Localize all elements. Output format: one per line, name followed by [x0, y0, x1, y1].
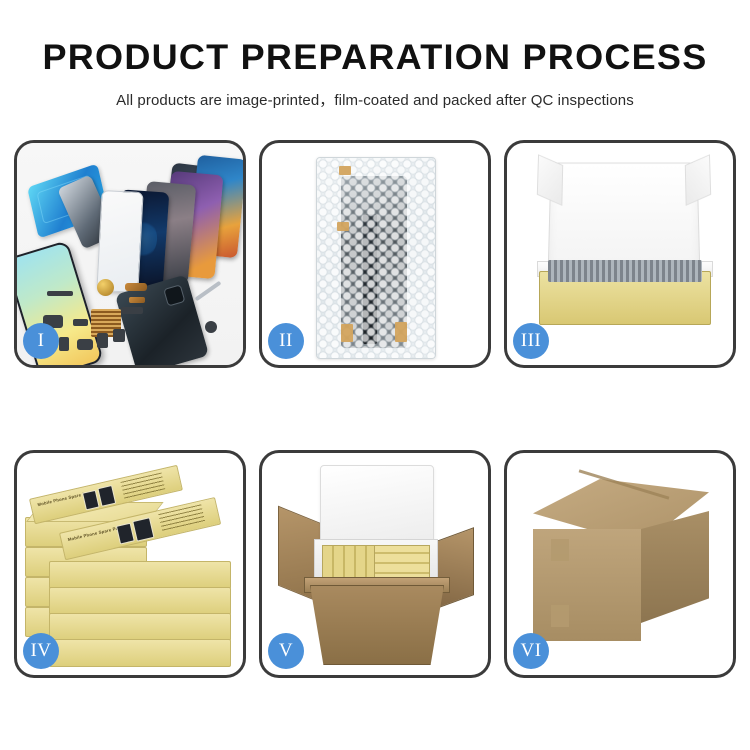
foam-box-lid [320, 465, 434, 543]
tape-piece-2 [337, 222, 349, 231]
tape-piece-3 [341, 324, 353, 342]
box-thumbnail-3 [116, 523, 135, 545]
flex-cable-1 [125, 283, 147, 291]
header: PRODUCT PREPARATION PROCESS All products… [0, 0, 750, 110]
step-badge-1: I [23, 323, 59, 359]
yellow-box-tray [539, 271, 711, 325]
flex-cable-2 [129, 297, 145, 303]
carton-tape-patch-2 [551, 605, 569, 627]
step-panel-1: I [14, 140, 246, 368]
box-stack: Mobile Phone Spare Parts Mobile Phone Sp… [25, 475, 239, 659]
part-strip-2 [73, 319, 88, 326]
box-spec-lines-2 [158, 504, 205, 532]
stacked-box-front-2 [49, 587, 231, 615]
bubble-wrap-bag [316, 157, 436, 359]
tape-piece-4 [395, 322, 407, 342]
tape-piece-1 [339, 166, 351, 175]
stacked-box-front-3 [49, 613, 231, 641]
part-strip-1 [47, 291, 73, 296]
step-panel-6: VI [504, 450, 736, 678]
part-block-5 [97, 333, 108, 348]
box-thumbnail-1 [82, 490, 100, 511]
box-spec-lines-1 [121, 473, 166, 500]
speaker-part [97, 279, 114, 296]
page-subtitle: All products are image-printed，film-coat… [0, 89, 750, 110]
part-block-3 [59, 337, 69, 351]
screw-set [205, 321, 217, 333]
product-preparation-infographic: PRODUCT PREPARATION PROCESS All products… [0, 0, 750, 750]
carton-side-face [641, 511, 709, 623]
step-panel-3: III [504, 140, 736, 368]
box-thumbnail-4 [132, 517, 154, 542]
step-badge-3: III [513, 323, 549, 359]
box-thumbnail-2 [97, 485, 116, 507]
part-block-6 [113, 329, 125, 342]
carton-front-face [533, 529, 641, 641]
part-block-4 [77, 339, 93, 350]
steps-grid: I II I [14, 140, 736, 678]
carton-body [310, 585, 444, 665]
flex-cable-3 [121, 307, 143, 314]
page-title: PRODUCT PREPARATION PROCESS [0, 40, 750, 75]
step-panel-2: II [259, 140, 491, 368]
screen-protector-glass [96, 190, 143, 293]
bubble-texture [317, 158, 435, 358]
step-badge-6: VI [513, 633, 549, 669]
stacked-box-front-1 [49, 561, 231, 589]
stacked-box-front-4 [49, 639, 231, 667]
step-panel-4: Mobile Phone Spare Parts Mobile Phone Sp… [14, 450, 246, 678]
carton-tape-patch-1 [551, 539, 569, 561]
step-badge-5: V [268, 633, 304, 669]
step-badge-2: II [268, 323, 304, 359]
tweezers [195, 281, 222, 301]
step-panel-5: V [259, 450, 491, 678]
step-badge-4: IV [23, 633, 59, 669]
